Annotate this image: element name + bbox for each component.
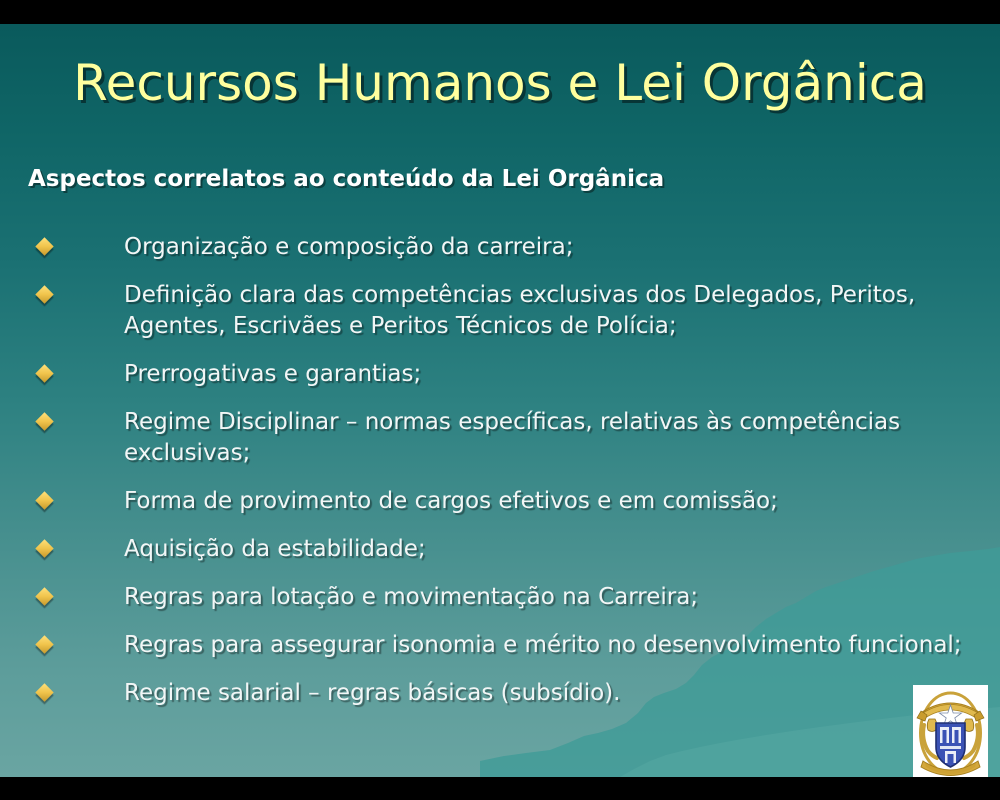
bullet-item: Definição clara das competências exclusi… bbox=[28, 280, 968, 342]
bullet-text: Regime salarial – regras básicas (subsíd… bbox=[124, 678, 968, 709]
slide-subtitle: Aspectos correlatos ao conteúdo da Lei O… bbox=[28, 166, 968, 192]
diamond-bullet-icon bbox=[35, 540, 53, 558]
bullet-item: Regras para lotação e movimentação na Ca… bbox=[28, 582, 968, 613]
diamond-bullet-icon bbox=[35, 684, 53, 702]
bullet-text: Regime Disciplinar – normas específicas,… bbox=[124, 407, 968, 469]
policia-civil-emblem-icon bbox=[913, 685, 988, 777]
letterbox-bar-top bbox=[0, 0, 1000, 24]
bullet-item: Regras para assegurar isonomia e mérito … bbox=[28, 630, 968, 661]
bullet-list: Organização e composição da carreira; De… bbox=[28, 232, 968, 727]
diamond-bullet-icon bbox=[35, 636, 53, 654]
diamond-bullet-icon bbox=[35, 285, 53, 303]
slide-title: Recursos Humanos e Lei Orgânica bbox=[0, 54, 1000, 112]
diamond-bullet-icon bbox=[35, 412, 53, 430]
bullet-item: Forma de provimento de cargos efetivos e… bbox=[28, 486, 968, 517]
bullet-text: Aquisição da estabilidade; bbox=[124, 534, 968, 565]
diamond-bullet-icon bbox=[35, 364, 53, 382]
bullet-item: Regime salarial – regras básicas (subsíd… bbox=[28, 678, 968, 709]
diamond-bullet-icon bbox=[35, 588, 53, 606]
bullet-item: Regime Disciplinar – normas específicas,… bbox=[28, 407, 968, 469]
slide-canvas: Recursos Humanos e Lei Orgânica Aspectos… bbox=[0, 24, 1000, 777]
bullet-item: Prerrogativas e garantias; bbox=[28, 359, 968, 390]
bullet-text: Organização e composição da carreira; bbox=[124, 232, 968, 263]
bullet-text: Regras para lotação e movimentação na Ca… bbox=[124, 582, 968, 613]
bullet-item: Aquisição da estabilidade; bbox=[28, 534, 968, 565]
bullet-text: Prerrogativas e garantias; bbox=[124, 359, 968, 390]
bullet-item: Organização e composição da carreira; bbox=[28, 232, 968, 263]
diamond-bullet-icon bbox=[35, 492, 53, 510]
bullet-text: Forma de provimento de cargos efetivos e… bbox=[124, 486, 968, 517]
bullet-text: Definição clara das competências exclusi… bbox=[124, 280, 968, 342]
diamond-bullet-icon bbox=[35, 237, 53, 255]
bullet-text: Regras para assegurar isonomia e mérito … bbox=[124, 630, 968, 661]
presentation-slide: Recursos Humanos e Lei Orgânica Aspectos… bbox=[0, 0, 1000, 800]
letterbox-bar-bottom bbox=[0, 777, 1000, 800]
